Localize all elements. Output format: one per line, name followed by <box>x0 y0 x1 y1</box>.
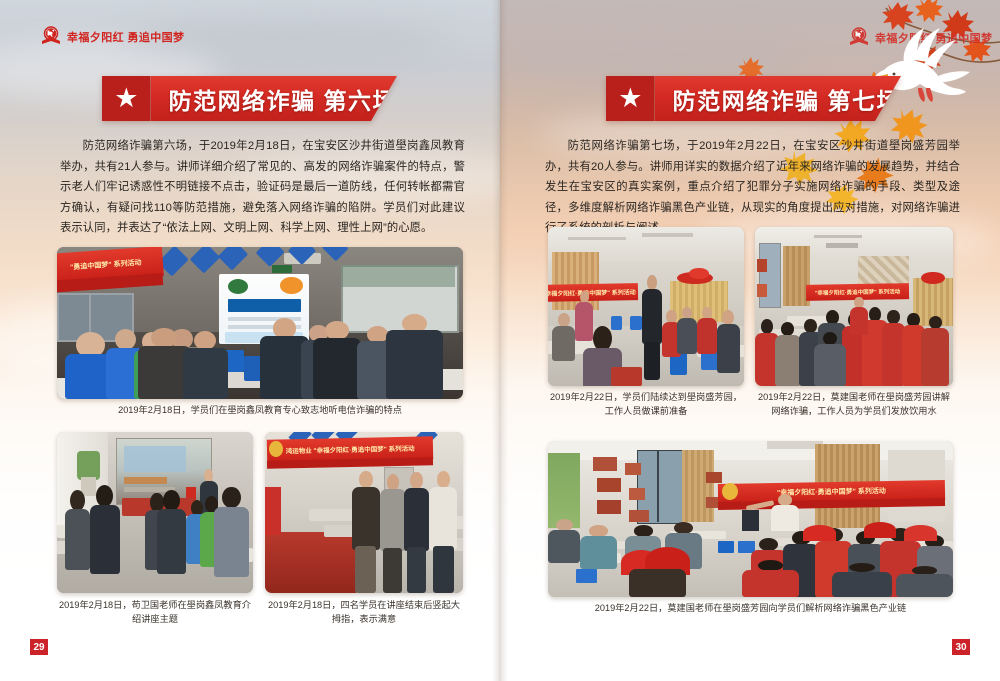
page-number-badge: 30 <box>952 639 970 655</box>
section-title-banner: ★ 防范网络诈骗 第六场 <box>102 76 397 121</box>
photo-caption: 2019年2月18日，苟卫国老师在壆岗鑫凤教育介绍讲座主题 <box>57 598 253 626</box>
photo-students-thumbs-up: 鸿运物业 "幸福夕阳红·勇追中国梦" 系列活动 <box>265 432 463 593</box>
banner-body: 防范网络诈骗 第六场 <box>151 76 397 121</box>
party-emblem-icon <box>848 27 870 48</box>
photo-arrival-preparation: "幸福夕阳红·勇追中国梦" 系列活动 <box>548 227 744 386</box>
photo-caption: 2019年2月18日，学员们在壆岗鑫凤教育专心致志地听电信诈骗的特点 <box>57 403 463 417</box>
page-title: 防范网络诈骗 第七场 <box>673 82 901 116</box>
article-body: 防范网络诈骗第七场，于2019年2月22日，在宝安区沙井街道壆岗盛芳园举办，共有… <box>545 136 960 239</box>
star-icon: ★ <box>618 85 642 112</box>
page-number-badge: 29 <box>30 639 48 655</box>
photo-lecture-room <box>57 432 253 593</box>
brand-text: 幸福夕阳红 勇追中国梦 <box>875 30 992 46</box>
banner-star-block: ★ <box>606 76 655 121</box>
photo-caption: 2019年2月22日，学员们陆续达到壆岗盛芳园，工作人员做课前准备 <box>548 390 744 418</box>
star-icon: ★ <box>114 85 138 112</box>
banner-star-block: ★ <box>102 76 151 121</box>
page-right: 幸福夕阳红 勇追中国梦 ★ 防范网络诈骗 第七场 防范网络诈骗第七场，于2019… <box>500 0 1000 681</box>
brand-text: 幸福夕阳红 勇追中国梦 <box>67 29 184 45</box>
magazine-spread: 幸福夕阳红 勇追中国梦 ★ 防范网络诈骗 第六场 防范网络诈骗第六场，于2019… <box>0 0 1000 681</box>
article-body: 防范网络诈骗第六场，于2019年2月18日，在宝安区沙井街道壆岗鑫凤教育举办，共… <box>60 136 465 239</box>
photo-teacher-explaining: "幸福夕阳红·勇追中国梦" 系列活动 <box>755 227 953 386</box>
photo-caption: 2019年2月22日，莫建国老师在壆岗盛芳园讲解网络诈骗，工作人员为学员们发放饮… <box>755 390 953 418</box>
party-emblem-icon <box>40 26 62 47</box>
photo-black-industry-chain-lecture: "幸福夕阳红·勇追中国梦" 系列活动 <box>548 441 953 597</box>
page-left: 幸福夕阳红 勇追中国梦 ★ 防范网络诈骗 第六场 防范网络诈骗第六场，于2019… <box>0 0 500 681</box>
section-title-banner: ★ 防范网络诈骗 第七场 <box>606 76 901 121</box>
photo-caption: 2019年2月18日，四名学员在讲座结束后竖起大拇指，表示满意 <box>265 598 463 626</box>
photo-classroom-audience: "勇追中国梦" 系列活动 <box>57 247 463 399</box>
photo-caption: 2019年2月22日，莫建国老师在壆岗盛芳园向学员们解析网络诈骗黑色产业链 <box>548 601 953 615</box>
page-title: 防范网络诈骗 第六场 <box>169 82 397 116</box>
banner-body: 防范网络诈骗 第七场 <box>655 76 901 121</box>
scene-banner-text: "幸福夕阳红·勇追中国梦" 系列活动 <box>548 283 638 302</box>
brand-logo: 幸福夕阳红 勇追中国梦 <box>40 26 184 47</box>
brand-logo: 幸福夕阳红 勇追中国梦 <box>848 27 992 48</box>
